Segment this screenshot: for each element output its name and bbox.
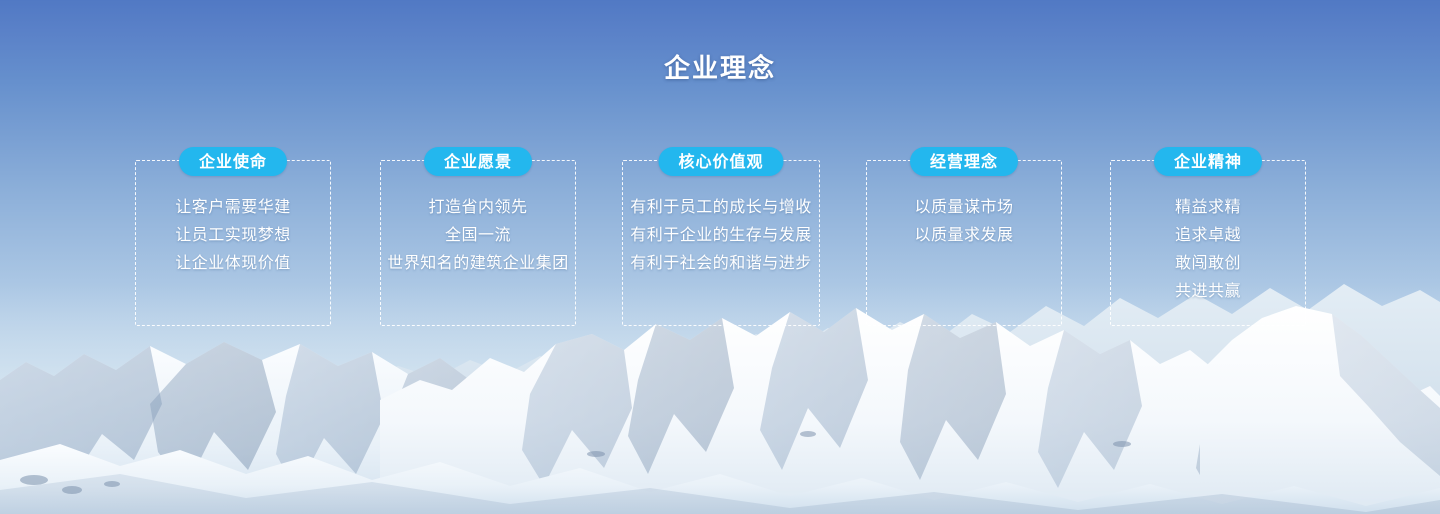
card-heading-pill: 企业愿景 bbox=[424, 147, 532, 176]
page-title: 企业理念 bbox=[0, 52, 1440, 86]
card-corporate-spirit: 企业精神 精益求精 追求卓越 敢闯敢创 共进共赢 bbox=[1110, 160, 1306, 326]
hero-banner: 企业理念 企业使命 让客户需要华建 让员工实现梦想 让企业体现价值 企业愿景 打… bbox=[0, 0, 1440, 514]
card-body: 让客户需要华建 让员工实现梦想 让企业体现价值 bbox=[136, 193, 330, 277]
philosophy-card-row: 企业使命 让客户需要华建 让员工实现梦想 让企业体现价值 企业愿景 打造省内领先… bbox=[0, 160, 1440, 326]
card-line: 有利于社会的和谐与进步 bbox=[627, 249, 815, 277]
card-line: 有利于企业的生存与发展 bbox=[627, 221, 815, 249]
card-line: 全国一流 bbox=[385, 221, 571, 249]
card-line: 以质量求发展 bbox=[871, 221, 1057, 249]
card-body: 打造省内领先 全国一流 世界知名的建筑企业集团 bbox=[381, 193, 575, 277]
card-line: 敢闯敢创 bbox=[1115, 249, 1301, 277]
card-line: 让员工实现梦想 bbox=[140, 221, 326, 249]
card-line: 有利于员工的成长与增收 bbox=[627, 193, 815, 221]
card-line: 让企业体现价值 bbox=[140, 249, 326, 277]
card-heading-pill: 核心价值观 bbox=[658, 147, 783, 176]
card-line: 精益求精 bbox=[1115, 193, 1301, 221]
card-line: 世界知名的建筑企业集团 bbox=[385, 249, 571, 277]
card-body: 精益求精 追求卓越 敢闯敢创 共进共赢 bbox=[1111, 193, 1305, 305]
card-line: 共进共赢 bbox=[1115, 277, 1301, 305]
card-heading-pill: 企业使命 bbox=[179, 147, 287, 176]
card-heading-pill: 企业精神 bbox=[1154, 147, 1262, 176]
card-corporate-mission: 企业使命 让客户需要华建 让员工实现梦想 让企业体现价值 bbox=[135, 160, 331, 326]
card-core-values: 核心价值观 有利于员工的成长与增收 有利于企业的生存与发展 有利于社会的和谐与进… bbox=[622, 160, 820, 326]
card-heading-pill: 经营理念 bbox=[910, 147, 1018, 176]
card-line: 追求卓越 bbox=[1115, 221, 1301, 249]
card-body: 有利于员工的成长与增收 有利于企业的生存与发展 有利于社会的和谐与进步 bbox=[623, 193, 819, 277]
card-line: 让客户需要华建 bbox=[140, 193, 326, 221]
card-line: 打造省内领先 bbox=[385, 193, 571, 221]
card-line: 以质量谋市场 bbox=[871, 193, 1057, 221]
card-business-philosophy: 经营理念 以质量谋市场 以质量求发展 bbox=[866, 160, 1062, 326]
card-body: 以质量谋市场 以质量求发展 bbox=[867, 193, 1061, 249]
card-corporate-vision: 企业愿景 打造省内领先 全国一流 世界知名的建筑企业集团 bbox=[380, 160, 576, 326]
